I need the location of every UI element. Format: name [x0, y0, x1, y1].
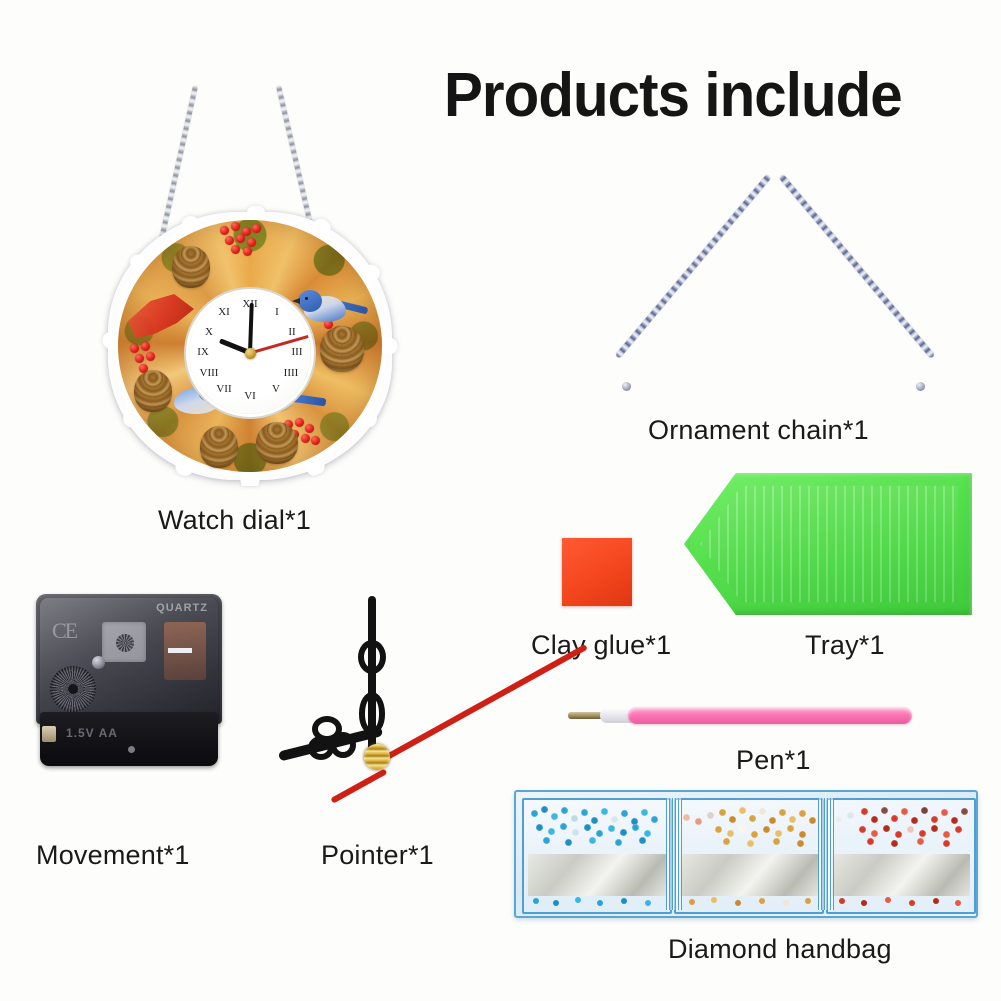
tray-item — [684, 470, 976, 630]
numeral-1: I — [266, 307, 288, 318]
ornament-chain-item — [620, 160, 930, 410]
gem-fill-gold — [679, 804, 819, 848]
ornament-chain-right-icon — [779, 174, 935, 359]
movement-item: QUARTZ CE 1.5V AA — [36, 594, 226, 774]
pointer-hub-icon — [364, 744, 390, 770]
pointer-second-hand-tail — [330, 768, 387, 803]
chain-end-right — [916, 382, 925, 391]
page-title: Products include — [444, 62, 963, 130]
gem-fill-blue — [527, 804, 667, 848]
movement-adjust-wheel-icon[interactable] — [50, 666, 96, 712]
chain-end-left — [622, 382, 631, 391]
movement-shaft — [92, 656, 105, 669]
pen-item — [556, 702, 916, 736]
pointer-scroll-detail-c — [330, 732, 356, 758]
battery-label: 1.5V AA — [66, 726, 118, 740]
movement-coil — [164, 622, 206, 680]
numeral-3: III — [286, 347, 308, 358]
pinecone-bottom-left — [200, 426, 238, 468]
gem-fill-red — [831, 804, 971, 848]
product-contents-page: Products include — [0, 0, 1001, 1001]
tray-rim — [684, 470, 972, 618]
pinecone-right — [320, 326, 364, 372]
pen-caption: Pen*1 — [736, 745, 811, 776]
ce-mark-icon: CE — [52, 618, 76, 644]
minute-hand — [248, 303, 254, 353]
battery-contact — [42, 726, 56, 742]
gem-fill-blue-bottom — [527, 896, 667, 910]
pouch-foil-label-blue — [528, 854, 666, 896]
pointer-caption: Pointer*1 — [321, 840, 434, 871]
pouch-foil-label-gold — [680, 854, 818, 896]
ornament-chain-caption: Ornament chain*1 — [648, 415, 869, 446]
numeral-11: XI — [213, 307, 235, 318]
movement-gear-icon — [116, 634, 134, 652]
tray-caption: Tray*1 — [805, 630, 885, 661]
clay-glue-icon — [562, 538, 632, 606]
watch-dial-item: XII I II III IIII V VI VII VIII IX X XI — [88, 70, 408, 510]
movement-housing: QUARTZ CE — [36, 594, 222, 724]
movement-battery-compartment: 1.5V AA — [40, 712, 218, 766]
gem-pouch-gold — [674, 798, 824, 914]
numeral-8: VIII — [198, 368, 220, 379]
pen-barrel-icon — [628, 707, 912, 724]
numeral-7: VII — [213, 384, 235, 395]
quartz-label: QUARTZ — [156, 602, 208, 614]
diamond-handbag-item — [514, 790, 978, 918]
berry-cluster-top — [218, 222, 262, 256]
numeral-4: IIII — [280, 368, 302, 379]
gem-pouch-red — [826, 798, 976, 914]
diamond-bag-icon — [514, 790, 978, 918]
pouch-foil-label-red — [832, 854, 970, 896]
numeral-10: X — [198, 327, 220, 338]
clock-hub — [245, 348, 256, 359]
diamond-handbag-caption: Diamond handbag — [668, 934, 892, 965]
gem-fill-gold-bottom — [679, 896, 819, 910]
pouch-seal-left — [666, 798, 682, 910]
pinecone-top-left — [172, 246, 210, 288]
clock-face: XII I II III IIII V VI VII VIII IX X XI — [189, 292, 311, 414]
pointer-item — [268, 596, 498, 816]
blue-jay-top-right-icon — [298, 288, 360, 326]
numeral-9: IX — [192, 347, 214, 358]
watch-dial-caption: Watch dial*1 — [158, 505, 311, 536]
movement-caption: Movement*1 — [36, 840, 190, 871]
numeral-6: VI — [239, 391, 261, 402]
gem-pouch-blue — [522, 798, 672, 914]
movement-screw-icon — [128, 746, 135, 753]
clay-glue-item — [562, 538, 638, 612]
pinecone-bottom-right — [256, 422, 298, 464]
ornament-chain-left-icon — [615, 174, 771, 359]
gem-fill-red-bottom — [831, 896, 971, 910]
clay-glue-caption: Clay glue*1 — [531, 630, 671, 661]
numeral-5: V — [265, 384, 287, 395]
pouch-seal-right — [818, 798, 834, 910]
